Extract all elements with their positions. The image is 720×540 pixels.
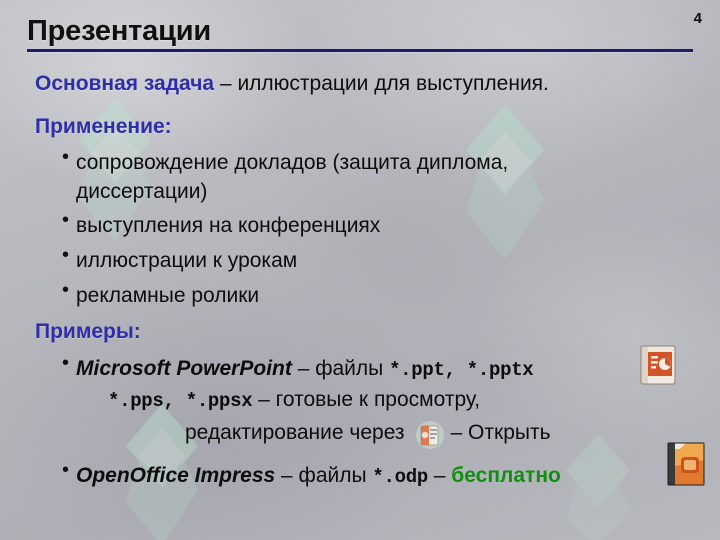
title-block: Презентации (27, 16, 693, 52)
powerpoint-icon (636, 344, 682, 388)
page-title: Презентации (27, 16, 693, 46)
powerpoint-edit-suffix: – Открыть (451, 421, 551, 445)
list-item: • Microsoft PowerPoint – файлы *.ppt, *.… (62, 356, 682, 383)
powerpoint-ext-primary: *.ppt, *.pptx (389, 359, 533, 381)
list-item: • иллюстрации к урокам (62, 248, 662, 273)
bullet-icon: • (62, 460, 76, 480)
bullet-icon: • (62, 280, 76, 300)
usage-item-1: диссертации) (76, 180, 207, 204)
powerpoint-files-label: – файлы (292, 357, 389, 380)
usage-item-2: выступления на конференциях (76, 213, 380, 238)
powerpoint-line: Microsoft PowerPoint – файлы *.ppt, *.pp… (76, 356, 533, 383)
slide-body: Основная задача – иллюстрации для выступ… (0, 68, 720, 540)
usage-item-0: сопровождение докладов (защита диплома, (76, 150, 508, 175)
list-item: • рекламные ролики (62, 283, 662, 308)
list-item: • выступления на конференциях (62, 213, 662, 238)
powerpoint-edit-prefix: редактирование через (185, 421, 405, 445)
powerpoint-edit-line: редактирование через – Открыть (185, 418, 551, 448)
presentation-slide: 4 Презентации Основная задача – иллюстра… (0, 0, 720, 540)
title-underline-rule (27, 49, 693, 52)
usage-heading: Применение: (35, 115, 172, 139)
usage-item-3: иллюстрации к урокам (76, 248, 297, 273)
bullet-icon: • (62, 245, 76, 265)
powerpoint-name: Microsoft PowerPoint (76, 357, 292, 380)
impress-free-dash: – (428, 464, 451, 487)
bullet-icon: • (62, 353, 76, 373)
impress-line: OpenOffice Impress – файлы *.odp – беспл… (76, 463, 561, 490)
bullet-icon: • (62, 147, 76, 167)
impress-icon (664, 440, 712, 495)
usage-item-4: рекламные ролики (76, 283, 259, 308)
impress-free-label: бесплатно (451, 464, 561, 487)
bullet-icon: • (62, 210, 76, 230)
impress-ext: *.odp (372, 466, 428, 488)
list-item: • OpenOffice Impress – файлы *.odp – бес… (62, 463, 682, 490)
intro-rest: – иллюстрации для выступления. (214, 72, 549, 95)
intro-lead: Основная задача (35, 72, 214, 95)
powerpoint-ready-note: – готовые к просмотру, (252, 388, 480, 411)
impress-name: OpenOffice Impress (76, 464, 275, 487)
powerpoint-ext-secondary-line: *.pps, *.ppsx – готовые к просмотру, (108, 388, 480, 412)
page-number: 4 (694, 10, 702, 27)
intro-line: Основная задача – иллюстрации для выступ… (35, 72, 549, 96)
examples-heading: Примеры: (35, 320, 141, 344)
powerpoint-ext-secondary: *.pps, *.ppsx (108, 390, 252, 412)
list-item: • сопровождение докладов (защита диплома… (62, 150, 662, 175)
impress-files-label: – файлы (275, 464, 372, 487)
powerpoint-small-icon (415, 420, 445, 450)
